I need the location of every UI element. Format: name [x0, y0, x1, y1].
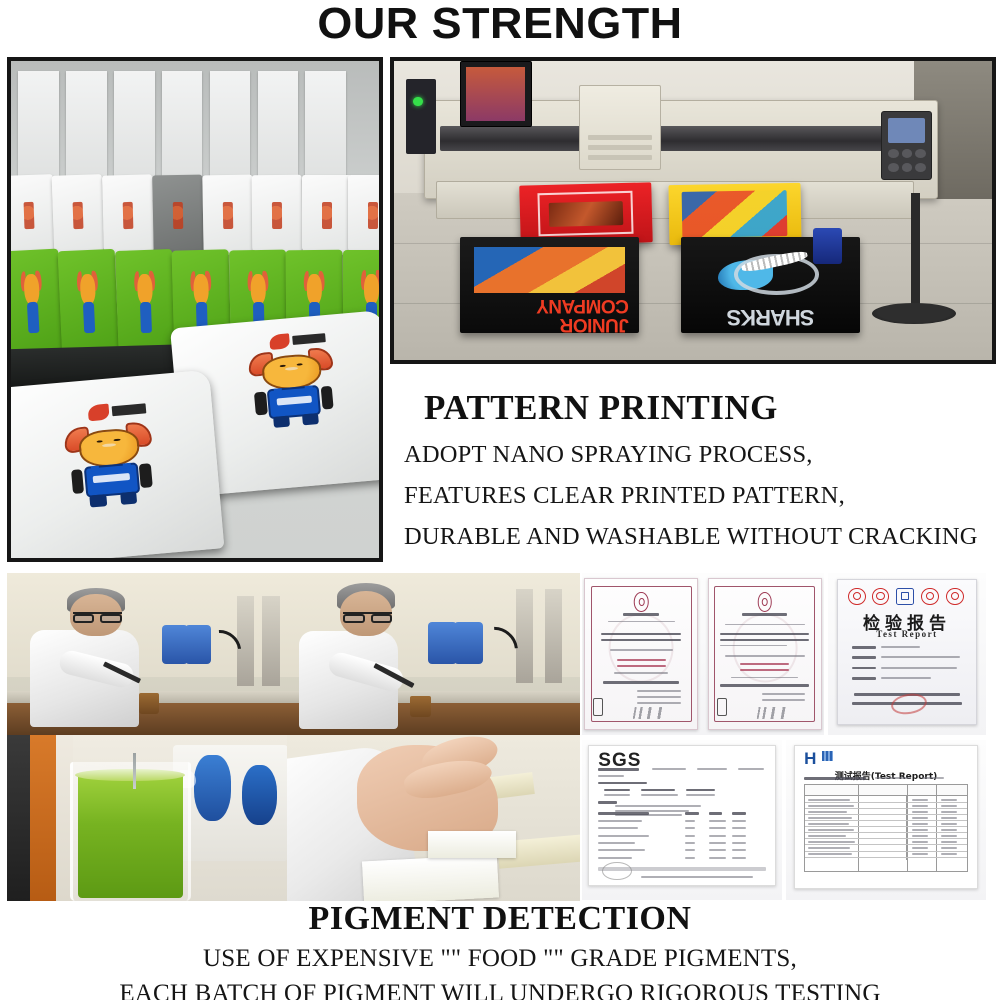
printed-garment-junior-company: JUNIOR COMPANY [460, 237, 639, 333]
glass-beaker [70, 762, 191, 901]
mixer-stand [516, 589, 534, 683]
bull-mascot-print [65, 420, 156, 509]
iso-certificate-right [708, 578, 822, 730]
floor-lamp-pole [911, 193, 921, 313]
garment-label-junior-company: JUNIOR COMPANY [471, 302, 629, 327]
eyeglasses-icon [343, 612, 393, 620]
h-report-title: 测试报告(Test Report) [795, 769, 977, 782]
foreground-post-dark [7, 735, 30, 901]
printer-button[interactable] [915, 149, 926, 158]
green-shirt [115, 249, 175, 360]
garment-label-sharks: SHARKS [692, 304, 850, 329]
bull-mascot-print [249, 346, 337, 430]
pattern-printing-text-block: PATTERN PRINTING ADOPT NANO SPRAYING PRO… [404, 388, 996, 551]
page-title: OUR STRENGTH [0, 0, 1000, 50]
report-field-rows [852, 645, 962, 688]
printer-button[interactable] [888, 149, 899, 158]
printed-garment-red [519, 182, 652, 245]
photo-hand-with-swatch [287, 735, 580, 901]
eyeglasses-icon [73, 612, 122, 620]
poster-root: OUR STRENGTH [0, 0, 1000, 1000]
pigment-detection-line-2: EACH BATCH OF PIGMENT WILL UNDERGO RIGOR… [0, 980, 1000, 1000]
sgs-seal-icon [602, 862, 632, 880]
power-led-icon [413, 97, 423, 107]
paper-sheet [428, 831, 516, 858]
accreditation-mark-icon [717, 698, 727, 716]
white-shirt [302, 175, 352, 255]
cnas-logo-icon [921, 588, 939, 605]
bull-mascot-print [21, 273, 43, 333]
sample-bottle [139, 693, 159, 714]
foreground-post-orange [30, 735, 56, 901]
green-shirt [7, 248, 63, 360]
h-brand-logo: H [804, 750, 835, 767]
printer-tablet-display[interactable] [460, 61, 532, 127]
floor-lamp-base [872, 303, 956, 324]
table-header-row [805, 785, 967, 796]
pigment-detection-heading: PIGMENT DETECTION [0, 900, 1000, 938]
iso-certificate-left [584, 578, 698, 730]
iso-logo-icon [896, 588, 914, 605]
certification-seal-icon [757, 592, 772, 612]
foreground-white-shirt [7, 370, 224, 562]
printer-button[interactable] [902, 149, 913, 158]
photo-lab-technician-left [7, 573, 294, 735]
printer-button[interactable] [888, 163, 899, 172]
pigment-detection-line-1: USE OF EXPENSIVE "" FOOD "" GRADE PIGMEN… [0, 945, 1000, 973]
liquid-surface [75, 769, 185, 782]
test-report-title-en: Test Report [838, 629, 975, 639]
document-sgs-report: SGS [582, 740, 782, 900]
photo-carousel-printing [7, 57, 383, 562]
white-shirt [252, 175, 302, 255]
green-pigment-liquid [78, 774, 183, 898]
certification-seal-icon [634, 592, 649, 612]
bull-mascot-print [134, 274, 155, 334]
brand-logo-print [88, 401, 147, 422]
white-shirt [152, 175, 203, 255]
paper-sheet [362, 854, 499, 901]
ccc-logo-icon [848, 588, 866, 605]
cqc-logo-icon [872, 588, 890, 605]
white-shirt [102, 175, 154, 256]
blue-mixer-motor [428, 622, 457, 664]
blue-mixer-motor [162, 625, 188, 664]
blue-equipment-part [242, 765, 276, 825]
shark-artwork [713, 251, 828, 301]
green-shirt [58, 249, 119, 361]
printer-head-carriage [579, 85, 661, 170]
printer-control-panel[interactable] [881, 111, 932, 181]
h-report-results-table [804, 784, 968, 872]
photo-lab-technician-right [287, 573, 580, 735]
pigment-detection-text-block: PIGMENT DETECTION USE OF EXPENSIVE "" FO… [0, 900, 1000, 1000]
mixer-stand [545, 589, 563, 683]
signature [632, 707, 677, 719]
photo-dtg-printer: JUNIOR COMPANY SHARKS [390, 57, 996, 364]
sgs-results-table [598, 812, 765, 865]
photo-green-pigment-beaker [7, 735, 294, 901]
printer-screen [888, 118, 925, 142]
document-h-test-report: H 测试报告(Test Report) [786, 740, 986, 900]
mixer-stand [262, 596, 279, 687]
sample-bottle [410, 696, 431, 717]
bull-mascot-print [78, 274, 100, 334]
document-test-report-cn: 检验报告 Test Report [828, 573, 986, 735]
pattern-printing-line-1: ADOPT NANO SPRAYING PROCESS, [404, 441, 996, 469]
blue-bottle-object [813, 228, 843, 264]
document-iso-certificates [582, 573, 824, 735]
white-shirt [348, 175, 383, 255]
printer-button[interactable] [902, 163, 913, 172]
pattern-printing-heading: PATTERN PRINTING [404, 388, 996, 428]
certification-logos [848, 588, 966, 605]
stirring-rod [133, 753, 136, 789]
printer-button[interactable] [915, 163, 926, 172]
pattern-printing-line-3: DURABLE AND WASHABLE WITHOUT CRACKING [404, 523, 996, 551]
white-shirt [202, 175, 253, 255]
accreditation-mark-icon [593, 698, 603, 716]
white-shirt [7, 174, 55, 255]
blue-equipment-part [194, 755, 231, 821]
printer-side-module [406, 79, 436, 154]
printer-gantry-rail [440, 126, 922, 151]
white-shirt [52, 174, 104, 255]
cma-logo-icon [946, 588, 964, 605]
white-shirt-row [7, 175, 383, 255]
signature [756, 707, 801, 719]
printed-garment-yellow [669, 182, 802, 244]
pattern-printing-line-2: FEATURES CLEAR PRINTED PATTERN, [404, 482, 996, 510]
